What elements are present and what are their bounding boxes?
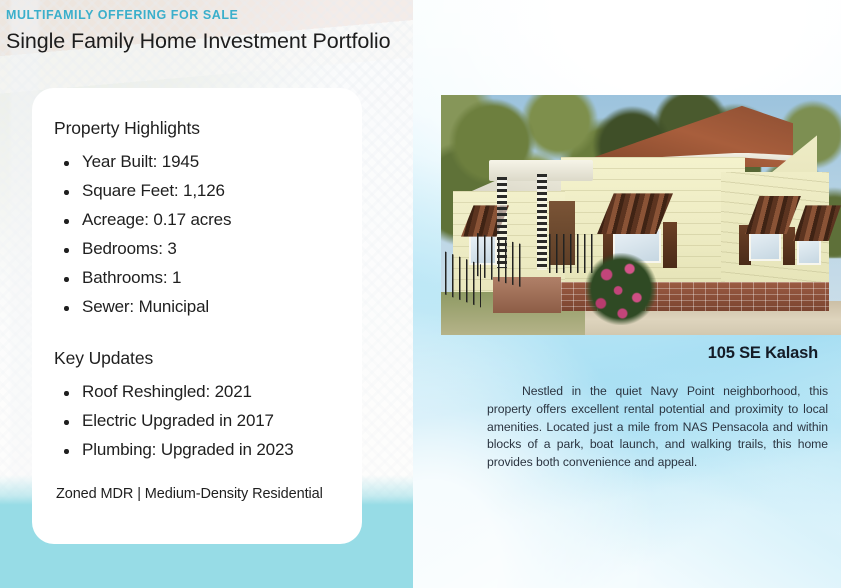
photo-iron-column [537,174,547,270]
property-address-heading: 105 SE Kalash [458,344,818,363]
page-title: Single Family Home Investment Portfolio [6,29,390,54]
slide-header: MULTIFAMILY OFFERING FOR SALE Single Fam… [6,8,390,54]
right-panel: 105 SE Kalash Nestled in the quiet Navy … [413,0,841,588]
property-highlights-heading: Property Highlights [54,118,336,139]
list-item: Square Feet: 1,126 [54,181,336,201]
list-item: Sewer: Municipal [54,297,336,317]
section-divider-space [54,326,336,348]
zoning-note: Zoned MDR | Medium-Density Residential [54,486,336,502]
photo-flowering-shrub [585,253,657,325]
property-description-text: Nestled in the quiet Navy Point neighbor… [487,383,828,472]
key-updates-list: Roof Reshingled: 2021 Electric Upgraded … [54,382,336,460]
property-highlights-list: Year Built: 1945 Square Feet: 1,126 Acre… [54,152,336,317]
list-item: Bedrooms: 3 [54,239,336,259]
list-item: Year Built: 1945 [54,152,336,172]
photo-shutter [663,222,677,268]
list-item: Plumbing: Upgraded in 2023 [54,440,336,460]
photo-porch-railing [549,234,593,272]
key-updates-heading: Key Updates [54,348,336,369]
list-item: Electric Upgraded in 2017 [54,411,336,431]
list-item: Bathrooms: 1 [54,268,336,288]
left-panel: MULTIFAMILY OFFERING FOR SALE Single Fam… [0,0,413,588]
offering-eyebrow-label: MULTIFAMILY OFFERING FOR SALE [6,8,390,22]
list-item: Acreage: 0.17 acres [54,210,336,230]
offering-slide: MULTIFAMILY OFFERING FOR SALE Single Fam… [0,0,841,588]
property-details-card: Property Highlights Year Built: 1945 Squ… [32,88,362,544]
property-exterior-photo [441,95,841,335]
list-item: Roof Reshingled: 2021 [54,382,336,402]
